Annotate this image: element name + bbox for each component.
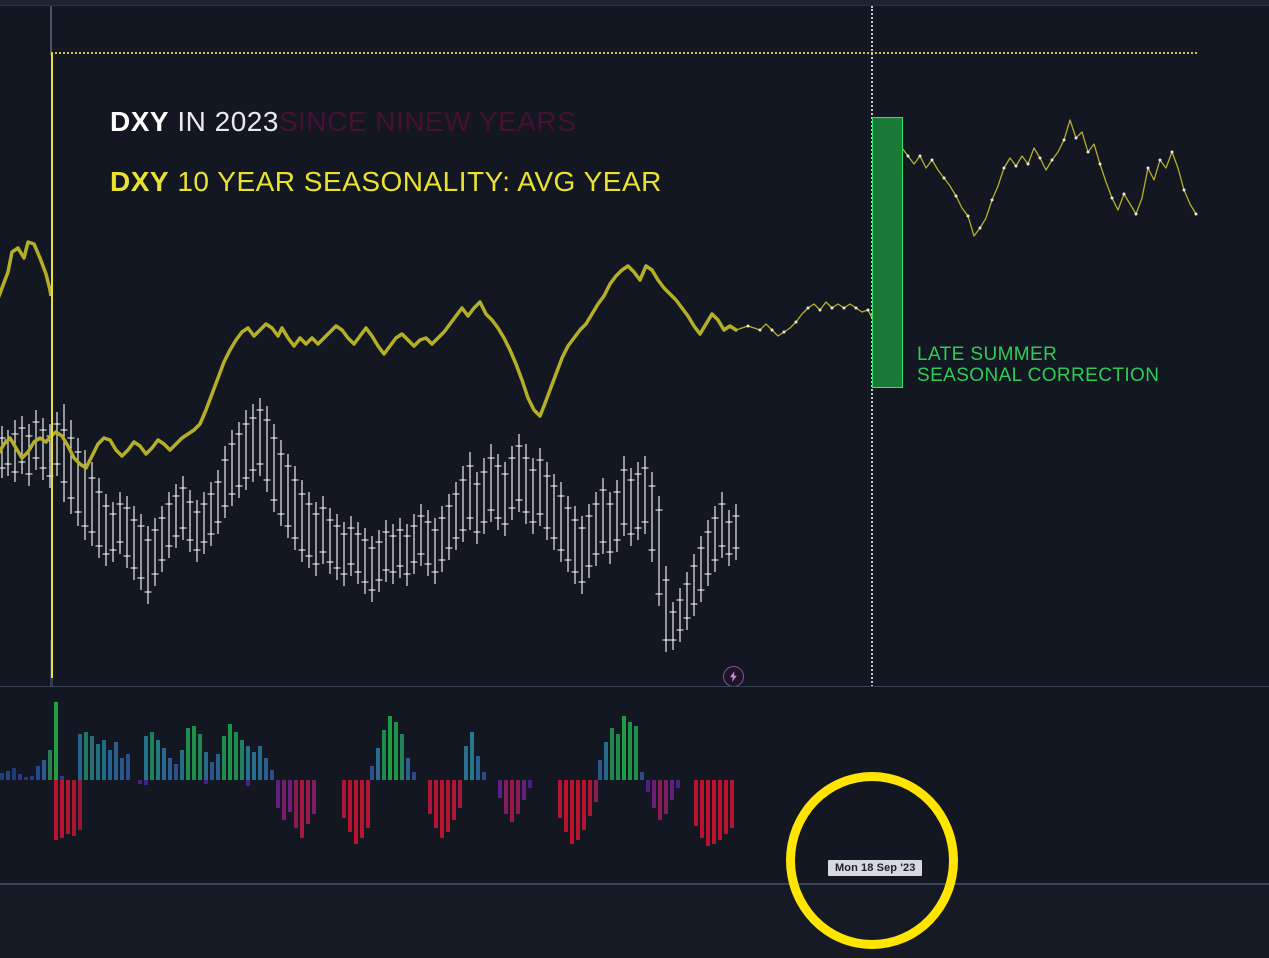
histogram-bars	[2, 702, 732, 846]
chart-title-seasonality: DXY 10 YEAR SEASONALITY: AVG YEAR	[110, 166, 662, 198]
seasonal-correction-highlight-box[interactable]	[872, 117, 903, 388]
title-seasonality-symbol: DXY	[110, 166, 169, 197]
pane-separator[interactable]	[0, 686, 1269, 687]
bottom-empty-area	[0, 885, 1269, 958]
vertical-year-start-line[interactable]	[51, 53, 53, 678]
horizontal-price-level-line[interactable]	[51, 52, 1197, 54]
histogram-layer	[0, 688, 1269, 856]
title-seasonality-text: 10 YEAR SEASONALITY: AVG YEAR	[169, 166, 662, 197]
seasonality-line-projected	[736, 120, 1196, 336]
histogram-indicator-pane[interactable]	[0, 688, 1269, 856]
seasonality-line-realized	[0, 266, 736, 468]
circle-annotation-highlight[interactable]	[786, 772, 958, 949]
bolt-icon[interactable]	[723, 666, 744, 687]
seasonality-projected-markers	[747, 137, 1198, 334]
title-symbol-dxy: DXY	[110, 106, 169, 137]
left-session-marker	[50, 6, 52, 55]
title-ghost-text: SINCE NINEW YEARS	[279, 106, 576, 137]
chart-title-primary: DXY IN 2023SINCE NINEW YEARS	[110, 106, 576, 138]
bolt-glyph	[729, 671, 738, 682]
seasonal-correction-label: LATE SUMMER SEASONAL CORRECTION	[917, 344, 1159, 386]
x-axis-strip[interactable]: 2023 Feb Mar Apr May Jun Jul Aug Sep Oct…	[0, 857, 1269, 883]
seasonality-line-prior-segment	[0, 242, 51, 304]
title-primary-text: IN 2023	[169, 106, 279, 137]
chart-screenshot: LATE SUMMER SEASONAL CORRECTION DXY IN 2…	[0, 0, 1269, 958]
candlestick-series	[0, 398, 740, 652]
